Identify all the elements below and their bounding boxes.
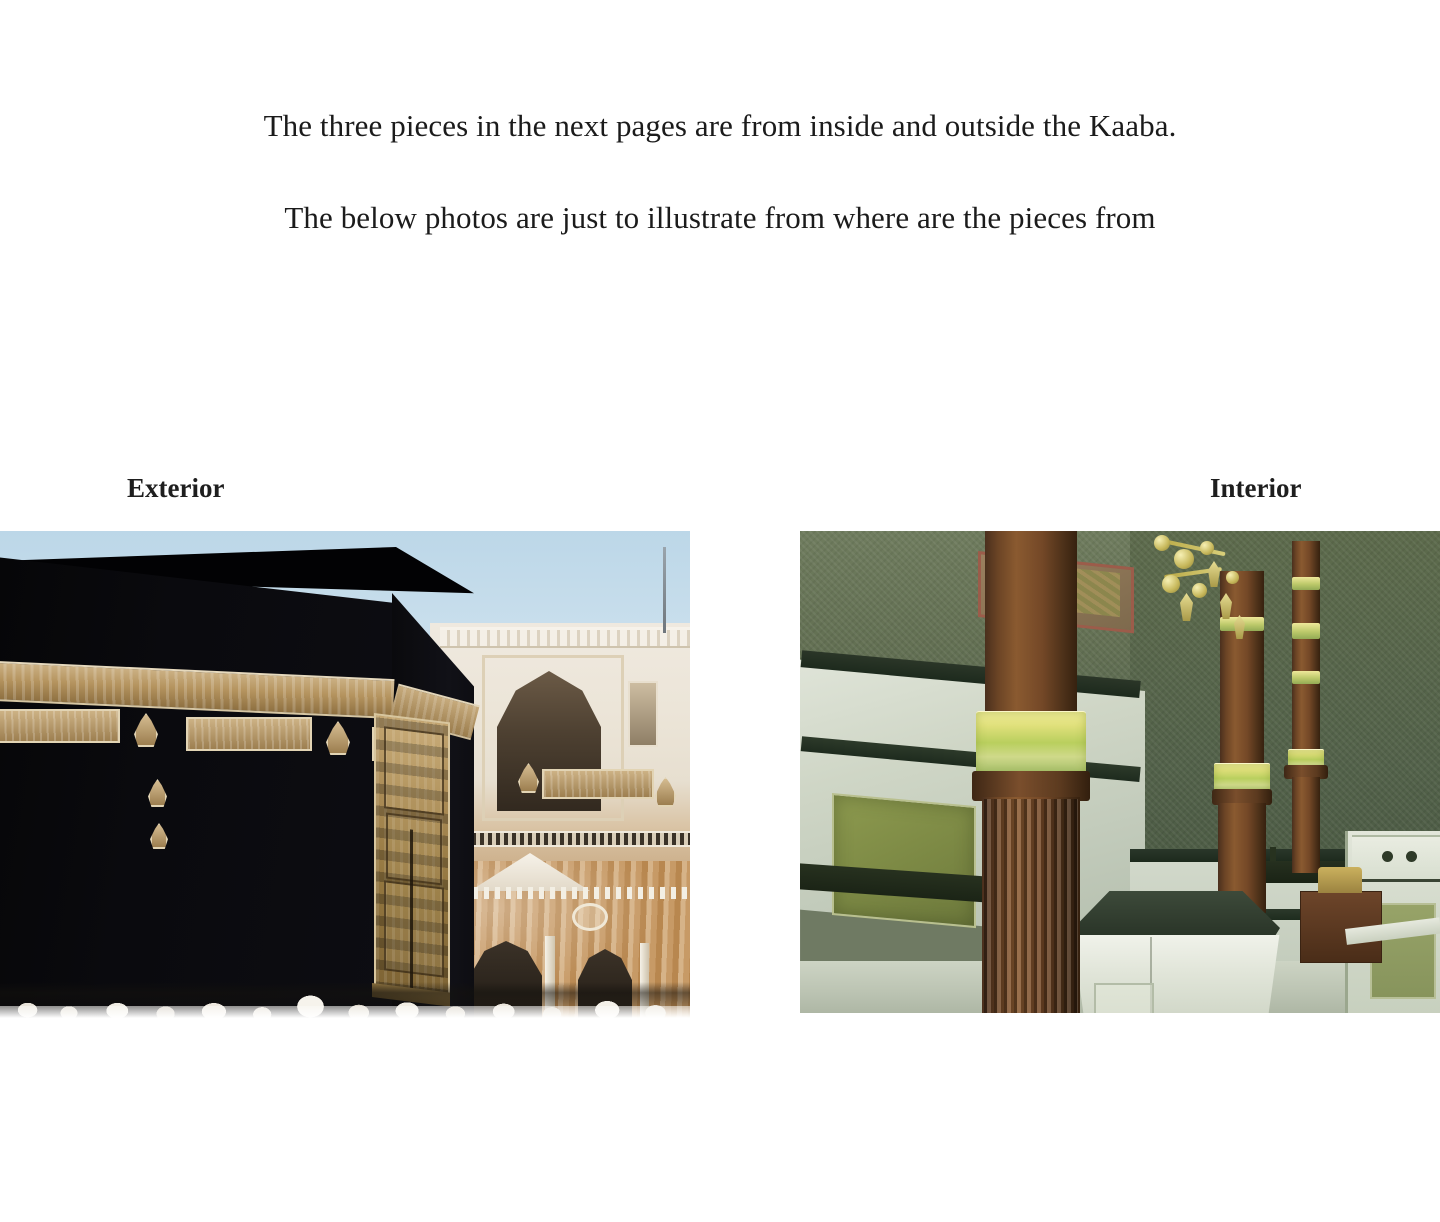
door-panel	[384, 880, 444, 977]
lamp-drop	[1180, 593, 1193, 621]
column-main	[985, 531, 1077, 727]
wall-niche-roundel	[1382, 851, 1393, 862]
lamp-drop	[1220, 593, 1232, 619]
olive-marble-panel	[832, 793, 976, 928]
column-far-ring	[1292, 671, 1320, 684]
lamp-ball	[1162, 575, 1180, 593]
mataf-floor	[0, 1006, 690, 1018]
wall-niche-roundel	[1406, 851, 1417, 862]
kaaba-front-face	[0, 557, 396, 1018]
arcade-medallion	[572, 903, 608, 931]
door-center-seam	[410, 829, 413, 995]
kiswah-cartouche	[0, 709, 120, 743]
door-panel	[384, 726, 444, 815]
kiswah-cartouche	[186, 717, 312, 751]
column-far-ring	[1292, 577, 1320, 590]
kaaba-golden-door	[374, 713, 450, 1002]
lamp-drop	[1208, 561, 1220, 587]
caption-exterior: Exterior	[127, 473, 224, 504]
hanging-lamp	[1152, 531, 1272, 661]
photo-kaaba-interior	[800, 531, 1440, 1013]
lamp-ball	[1154, 535, 1170, 551]
lamp-ball	[1174, 549, 1194, 569]
lamp-ball	[1192, 583, 1207, 598]
mosque-window	[628, 681, 658, 747]
corner-pedestal-cap	[1318, 867, 1362, 893]
lamp-ball	[1226, 571, 1239, 584]
mosque-mast	[663, 547, 666, 633]
lamp-ball	[1200, 541, 1214, 555]
door-panel	[386, 812, 442, 885]
intro-line-2: The below photos are just to illustrate …	[0, 200, 1440, 236]
lamp-drop	[1234, 615, 1245, 639]
platform-recess	[1094, 983, 1154, 1013]
wall-niche-header	[1352, 835, 1440, 882]
photo-kaaba-exterior	[0, 531, 690, 1018]
column-main-collar	[976, 711, 1086, 777]
intro-line-1: The three pieces in the next pages are f…	[0, 108, 1440, 144]
column-far-ring	[1292, 623, 1320, 639]
column-far	[1292, 541, 1320, 756]
kiswah-cartouche	[542, 769, 654, 799]
mosque-parapet	[440, 627, 690, 648]
caption-interior: Interior	[1210, 473, 1301, 504]
column-main-fluting	[984, 799, 1078, 1013]
column-far-shaft	[1292, 777, 1320, 873]
canopy-fringe	[440, 887, 690, 899]
